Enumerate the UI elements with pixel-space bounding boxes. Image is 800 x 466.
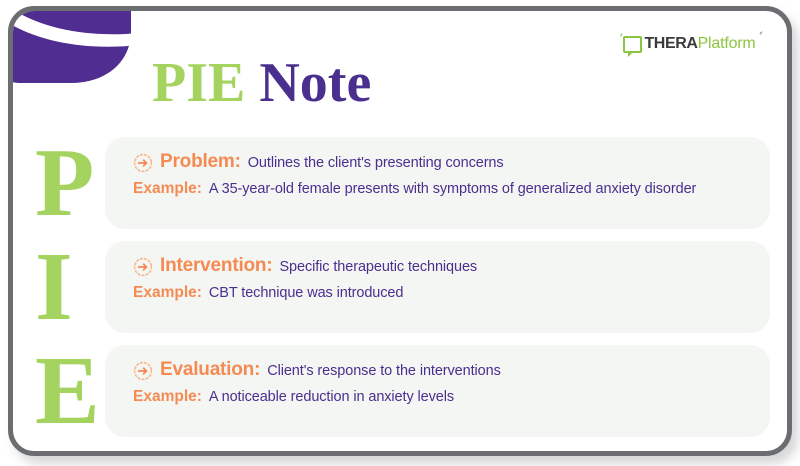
brand-name-light: Platform [698, 35, 756, 53]
arrow-circle-right-icon [133, 153, 153, 173]
chat-bubble-icon [623, 36, 642, 53]
arrow-circle-right-icon [133, 257, 153, 277]
row-label: Intervention: [160, 255, 272, 277]
row-heading: Evaluation: Client's response to the int… [133, 359, 754, 381]
row-panel: Evaluation: Client's response to the int… [105, 345, 770, 437]
arrow-circle-right-icon [133, 361, 153, 381]
brand-name-bold: THERA [644, 35, 697, 53]
row-description: Client's response to the interventions [267, 363, 501, 379]
row-example: Example: CBT technique was introduced [133, 284, 754, 303]
list-item: I Intervention: Specific therapeutic tec… [13, 241, 792, 333]
row-panel: Problem: Outlines the client's presentin… [105, 137, 770, 229]
example-text: A 35-year-old female presents with sympt… [209, 180, 696, 199]
row-heading: Problem: Outlines the client's presentin… [133, 151, 754, 173]
pie-rows: P Problem: Outlines the client's present… [13, 137, 792, 437]
row-example: Example: A noticeable reduction in anxie… [133, 388, 754, 407]
list-item: E Evaluation: Client's response to the i… [13, 345, 792, 437]
example-text: CBT technique was introduced [209, 284, 403, 303]
row-label: Evaluation: [160, 359, 260, 381]
row-description: Outlines the client's presenting concern… [248, 155, 504, 171]
row-heading: Intervention: Specific therapeutic techn… [133, 255, 754, 277]
row-description: Specific therapeutic techniques [279, 259, 477, 275]
brand-logo: ’ THERA Platform ‘ [618, 31, 761, 57]
row-label: Problem: [160, 151, 241, 173]
pie-note-card: ’ THERA Platform ‘ PIENote P [8, 6, 792, 456]
row-letter: P [35, 143, 119, 223]
page-title: PIENote [152, 55, 371, 111]
example-label: Example: [133, 388, 202, 406]
example-label: Example: [133, 284, 202, 302]
list-item: P Problem: Outlines the client's present… [13, 137, 792, 229]
page-title-accent: PIE [152, 52, 245, 114]
row-letter: I [35, 247, 119, 327]
row-letter: E [35, 351, 119, 431]
row-panel: Intervention: Specific therapeutic techn… [105, 241, 770, 333]
example-text: A noticeable reduction in anxiety levels [209, 388, 454, 407]
page-title-rest: Note [259, 52, 371, 114]
brand-swoosh-decoration [13, 11, 143, 89]
example-label: Example: [133, 180, 202, 198]
row-example: Example: A 35-year-old female presents w… [133, 180, 754, 199]
